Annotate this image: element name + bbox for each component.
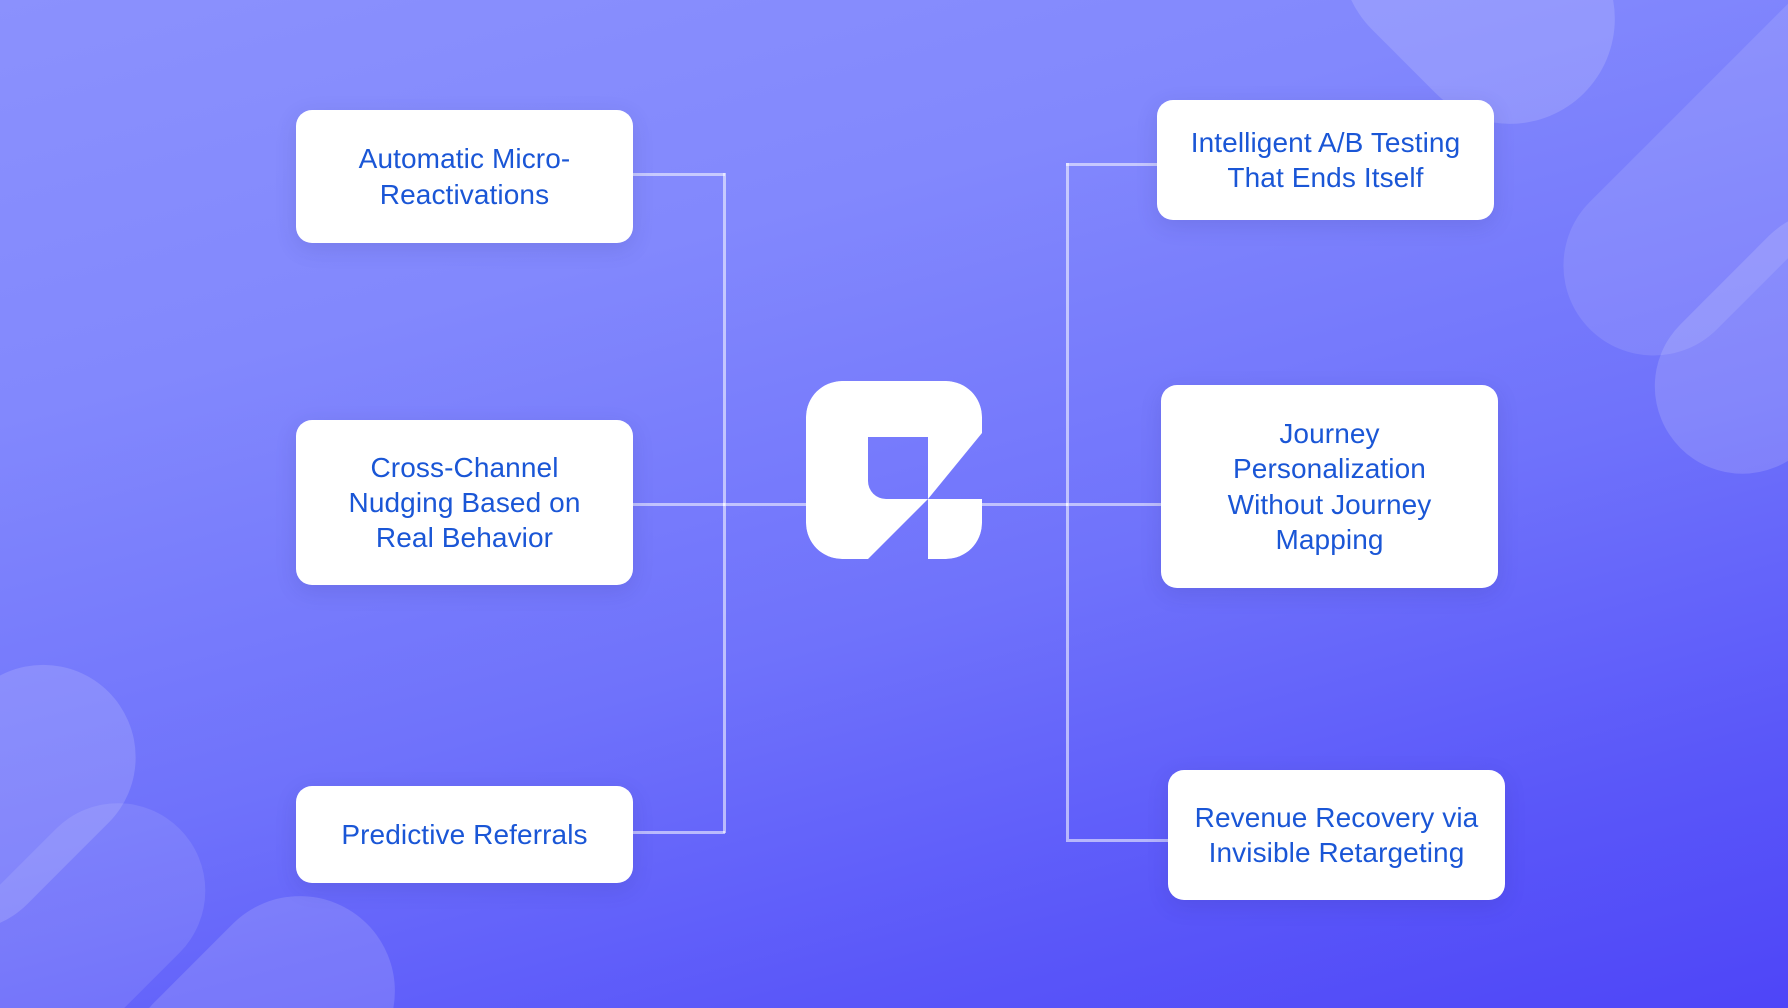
connector-right-branch-0	[1066, 163, 1161, 166]
node-card-journey-personalization[interactable]: Journey Personalization Without Journey …	[1161, 385, 1498, 588]
connector-left-branch-0	[633, 173, 725, 176]
node-card-cross-channel-nudging[interactable]: Cross-Channel Nudging Based on Real Beha…	[296, 420, 633, 585]
decorative-blob-bottom-left-2	[0, 767, 242, 1008]
node-card-automatic-micro-reactivations[interactable]: Automatic Micro- Reactivations	[296, 110, 633, 243]
connector-left-branch-1	[633, 503, 725, 506]
decorative-blob-top-right-2	[1526, 0, 1788, 393]
node-card-line: Without Journey	[1228, 487, 1432, 522]
node-card-line: Invisible Retargeting	[1195, 835, 1479, 870]
node-card-line: Personalization	[1228, 451, 1432, 486]
decorative-blob-bottom-left-1	[0, 627, 174, 970]
node-card-line: Mapping	[1228, 522, 1432, 557]
node-card-line: That Ends Itself	[1191, 160, 1461, 195]
connector-right-branch-1	[1066, 503, 1164, 506]
node-card-line: Automatic Micro-	[359, 141, 571, 176]
node-card-predictive-referrals[interactable]: Predictive Referrals	[296, 786, 633, 883]
node-card-line: Real Behavior	[349, 520, 581, 555]
connector-left-to-hub	[723, 503, 813, 506]
node-card-line: Intelligent A/B Testing	[1191, 125, 1461, 160]
brand-logo-icon	[806, 381, 982, 559]
node-card-line: Journey	[1228, 416, 1432, 451]
diagram-canvas: Automatic Micro- Reactivations Cross-Cha…	[0, 0, 1788, 1008]
node-card-line: Cross-Channel	[349, 450, 581, 485]
node-card-intelligent-ab-testing[interactable]: Intelligent A/B Testing That Ends Itself	[1157, 100, 1494, 220]
node-card-line: Predictive Referrals	[341, 817, 587, 852]
node-card-line: Reactivations	[359, 177, 571, 212]
node-card-line: Revenue Recovery via	[1195, 800, 1479, 835]
connector-right-to-hub	[978, 503, 1068, 506]
connector-left-branch-2	[633, 831, 725, 834]
node-card-line: Nudging Based on	[349, 485, 581, 520]
connector-right-spine	[1066, 163, 1069, 839]
node-card-revenue-recovery[interactable]: Revenue Recovery via Invisible Retargeti…	[1168, 770, 1505, 900]
connector-right-branch-2	[1066, 839, 1170, 842]
decorative-blob-top-right-3	[1619, 174, 1788, 510]
connector-left-spine	[723, 173, 726, 833]
